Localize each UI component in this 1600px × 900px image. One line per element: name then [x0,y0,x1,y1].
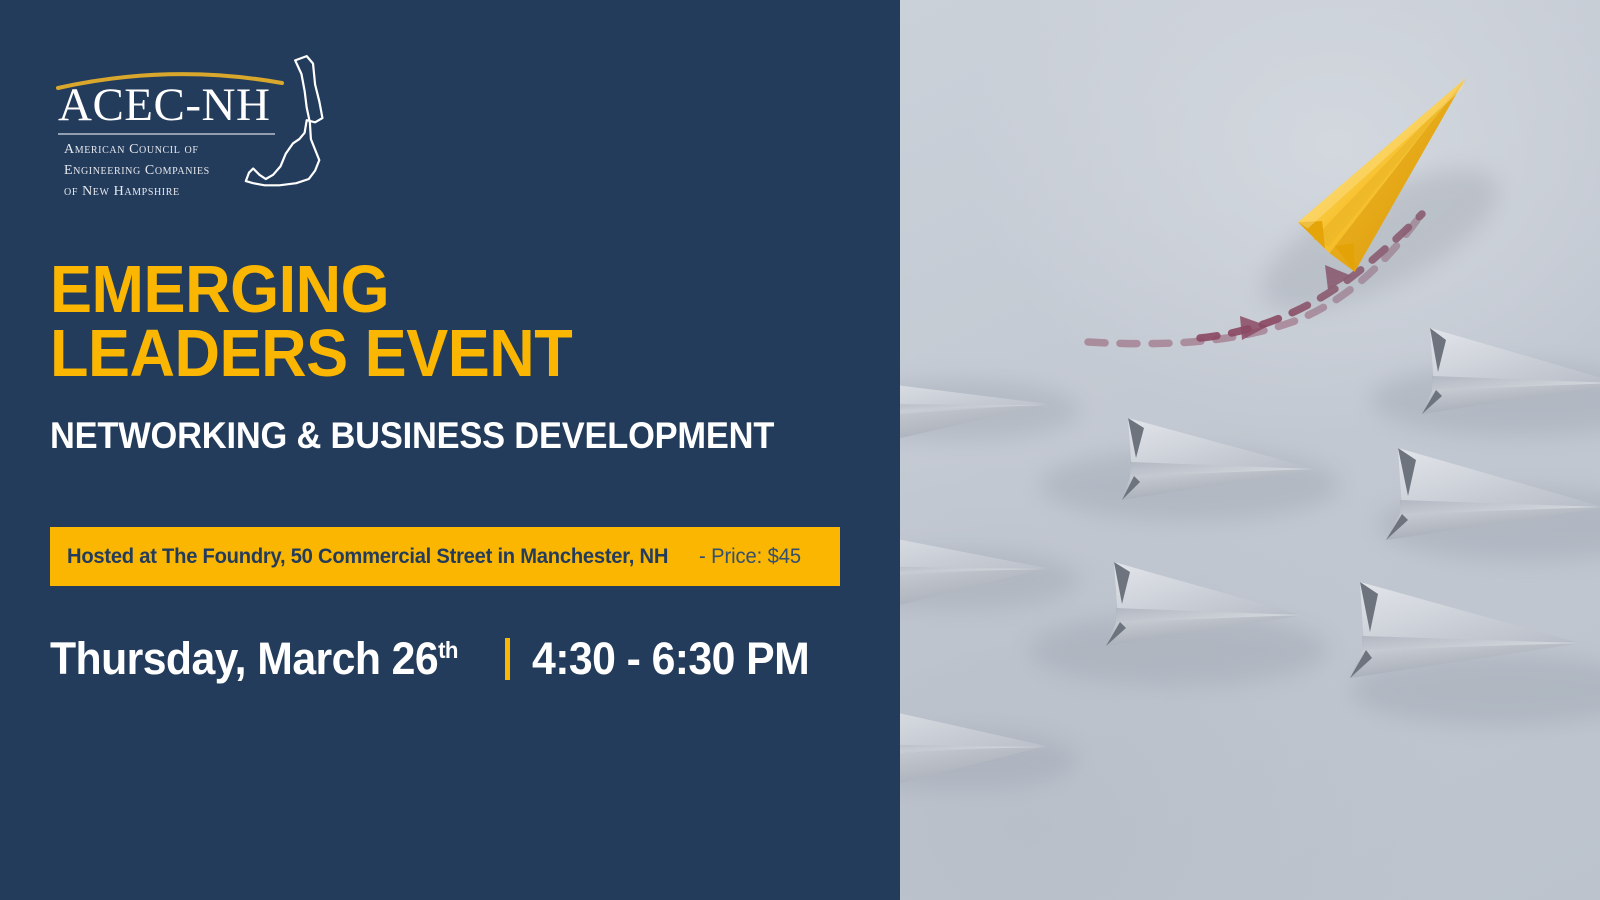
logo-wordmark: ACEC-NH [58,79,270,131]
event-datetime: Thursday, March 26th 4:30 - 6:30 PM [50,636,824,681]
logo-tagline-line-3: of New Hampshire [64,184,180,199]
datetime-divider [505,638,510,680]
event-subtitle: NETWORKING & BUSINESS DEVELOPMENT [50,417,774,454]
venue-price-bar: Hosted at The Foundry, 50 Commercial Str… [50,527,840,586]
grey-plane [1350,582,1600,726]
headline-line-1: EMERGING [50,258,821,322]
logo-tagline-line-2: Engineering Companies [64,163,210,178]
event-date-text: Thursday, March 26 [50,633,438,684]
yellow-paper-plane [1243,78,1522,339]
logo-tagline-line-1: American Council of [64,142,199,157]
event-time: 4:30 - 6:30 PM [532,636,809,681]
event-date-ordinal-suffix: th [438,637,458,663]
venue-price: - Price: $45 [699,545,801,569]
headline-line-2: LEADERS EVENT [50,322,821,386]
grey-plane [1378,448,1600,561]
event-flyer: ACEC-NH American Council of Engineering … [0,0,1600,900]
grey-plane [900,528,1080,620]
grey-plane [1370,328,1600,436]
navy-content-panel: ACEC-NH American Council of Engineering … [0,0,900,900]
grey-plane [900,378,1080,452]
acec-nh-logo[interactable]: ACEC-NH American Council of Engineering … [50,55,350,210]
venue-location: Hosted at The Foundry, 50 Commercial Str… [67,545,668,569]
grey-plane [1040,418,1340,521]
event-date: Thursday, March 26th [50,636,458,681]
event-headline: EMERGING LEADERS EVENT [50,258,870,387]
paper-planes-photo [900,0,1600,900]
grey-plane [900,700,1078,798]
